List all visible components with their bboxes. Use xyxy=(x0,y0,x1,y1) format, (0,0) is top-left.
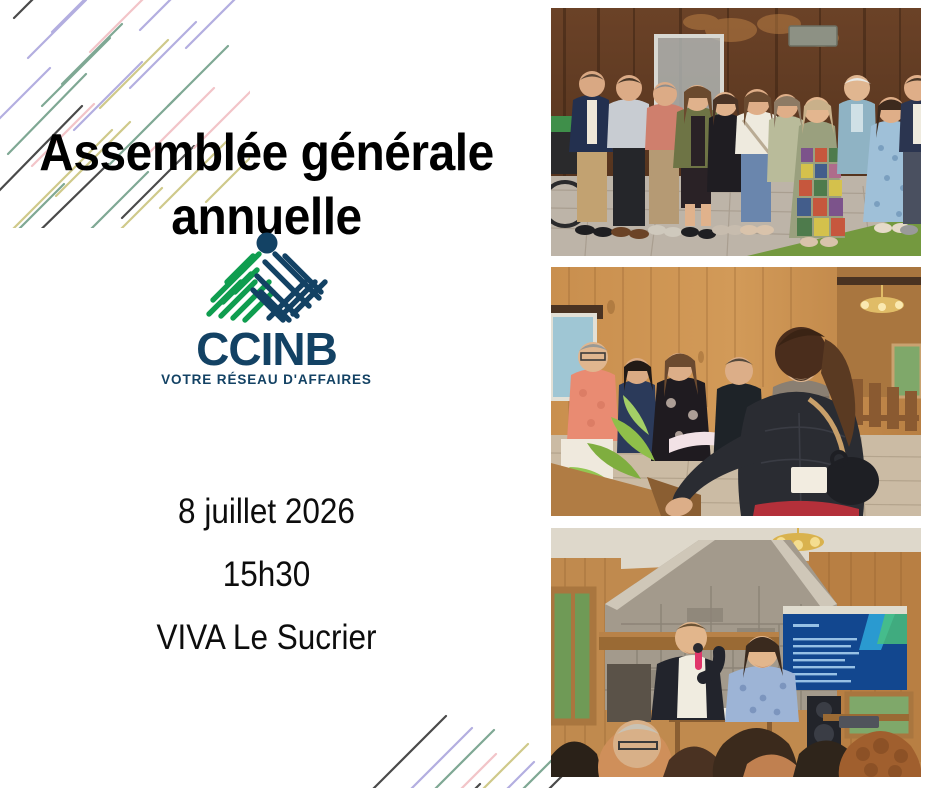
event-date: 8 juillet 2026 xyxy=(27,480,507,543)
logo-tagline: VOTRE RÉSEAU D'AFFAIRES xyxy=(0,372,533,388)
ccinb-logo: CCINB VOTRE RÉSEAU D'AFFAIRES xyxy=(0,232,533,380)
page-title: Assemblée générale annuelle xyxy=(21,121,511,249)
left-content-column: Assemblée générale annuelle xyxy=(0,0,533,788)
photo-presentation-indoor xyxy=(551,528,921,777)
photo-group-outdoor xyxy=(551,8,921,256)
ccinb-logo-mark-icon xyxy=(199,232,335,324)
title-line-1: Assemblée générale xyxy=(21,121,511,185)
event-time: 15h30 xyxy=(27,543,507,606)
event-venue: VIVA Le Sucrier xyxy=(27,606,507,669)
logo-wordmark: CCINB xyxy=(0,326,533,372)
event-details: 8 juillet 2026 15h30 VIVA Le Sucrier xyxy=(0,480,533,669)
photo-networking-indoor xyxy=(551,267,921,516)
poster-canvas: Assemblée générale annuelle xyxy=(0,0,940,788)
